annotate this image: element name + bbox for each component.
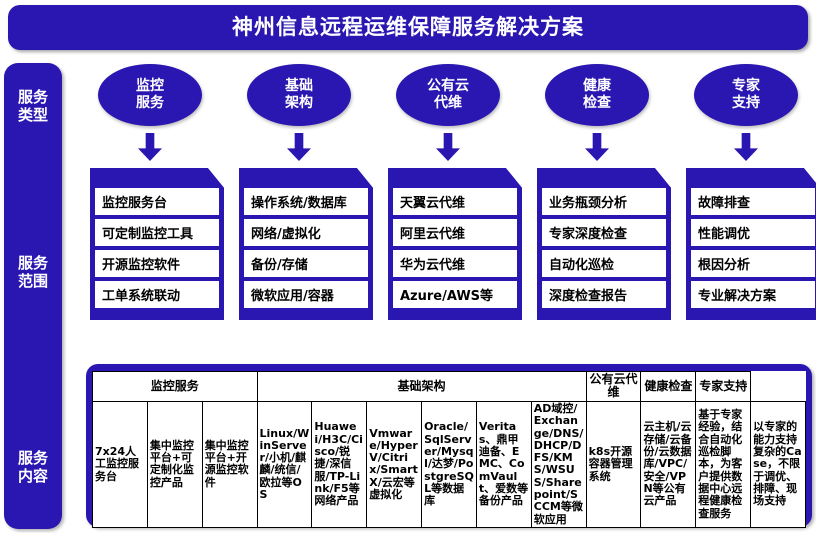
- table-cell: Oracle/SqlServer/Mysql/达梦/PostgreSQL等数据库: [422, 401, 477, 527]
- table-cell: 云主机/云存储/云备份/云数据库/VPC/安全/VPN等公有云产品: [641, 401, 696, 527]
- flow-arrow-down-4: [585, 133, 609, 161]
- scope-item-label: 可定制监控工具: [102, 223, 193, 242]
- page-title: 神州信息远程运维保障服务解决方案: [232, 17, 584, 38]
- scope-item[interactable]: 深度检查报告: [542, 281, 666, 308]
- rail-label-service-type-line1: 服务: [4, 89, 62, 107]
- category-label-line2: 服务: [136, 95, 164, 112]
- scope-box-1: 监控服务台可定制监控工具开源监控软件工单系统联动: [90, 168, 224, 320]
- table-cell: 7x24人工监控服务台: [93, 401, 148, 527]
- scope-item-label: 备份/存储: [251, 254, 308, 273]
- category-label-line2: 代维: [427, 95, 469, 112]
- table-group-header-3: 公有云代维: [586, 372, 641, 402]
- table-group-header-4: 健康检查: [641, 372, 696, 402]
- scope-item-label: 阿里云代维: [400, 223, 465, 242]
- scope-item[interactable]: 自动化巡检: [542, 250, 666, 277]
- scope-box-2: 操作系统/数据库网络/虚拟化备份/存储微软应用/容器: [239, 168, 373, 320]
- scope-item[interactable]: 工单系统联动: [95, 281, 219, 308]
- table-cell: 以专家的能力支持复杂的Case，不限于调优、排障、现场支持: [751, 401, 806, 527]
- scope-item[interactable]: 业务瓶颈分析: [542, 188, 666, 215]
- scope-item-label: 微软应用/容器: [251, 285, 334, 304]
- category-ellipse-label-4: 健康检查: [583, 78, 611, 112]
- rail-label-service-content: 服务 内容: [4, 450, 62, 485]
- category-ellipse-label-1: 监控服务: [136, 78, 164, 112]
- category-ellipse-4[interactable]: 健康检查: [545, 64, 649, 126]
- scope-item[interactable]: 性能调优: [691, 219, 815, 246]
- table-cell: AD域控/Exchange/DNS/DHCP/DFS/KMS/WSUS/Shar…: [531, 401, 586, 527]
- scope-item[interactable]: Azure/AWS等: [393, 281, 517, 308]
- table-group-header-5: 专家支持: [696, 372, 751, 402]
- scope-item[interactable]: 可定制监控工具: [95, 219, 219, 246]
- scope-item-label: 故障排查: [698, 192, 750, 211]
- category-label-line1: 公有云: [427, 78, 469, 95]
- scope-item[interactable]: 监控服务台: [95, 188, 219, 215]
- scope-item-label: 天翼云代维: [400, 192, 465, 211]
- flow-arrow-down-1: [138, 133, 162, 161]
- category-label-line1: 健康: [583, 78, 611, 95]
- category-ellipse-5[interactable]: 专家支持: [694, 64, 798, 126]
- scope-item-label: 华为云代维: [400, 254, 465, 273]
- rail-label-service-scope-line1: 服务: [4, 255, 62, 273]
- category-label-line1: 专家: [732, 78, 760, 95]
- flow-arrow-down-2: [287, 133, 311, 161]
- scope-item-label: 监控服务台: [102, 192, 167, 211]
- table-body: 7x24人工监控服务台集中监控平台+可定制化监控产品集中监控平台+开源监控软件L…: [93, 401, 806, 527]
- scope-item-label: 业务瓶颈分析: [549, 192, 627, 211]
- scope-item-label: 专家深度检查: [549, 223, 627, 242]
- table-cell: 集中监控平台+可定制化监控产品: [147, 401, 202, 527]
- table-group-header-2: 基础架构: [257, 372, 586, 402]
- scope-box-4: 业务瓶颈分析专家深度检查自动化巡检深度检查报告: [537, 168, 671, 320]
- scope-item[interactable]: 网络/虚拟化: [244, 219, 368, 246]
- flow-arrow-down-3: [436, 133, 460, 161]
- category-ellipse-3[interactable]: 公有云代维: [396, 64, 500, 126]
- scope-item[interactable]: 开源监控软件: [95, 250, 219, 277]
- category-label-line2: 检查: [583, 95, 611, 112]
- scope-item[interactable]: 天翼云代维: [393, 188, 517, 215]
- table-row: 7x24人工监控服务台集中监控平台+可定制化监控产品集中监控平台+开源监控软件L…: [93, 401, 806, 527]
- category-ellipse-1[interactable]: 监控服务: [98, 64, 202, 126]
- left-rail: 服务 类型 服务 范围 服务 内容: [4, 63, 62, 529]
- rail-label-service-type-line2: 类型: [4, 107, 62, 125]
- category-label-line2: 支持: [732, 95, 760, 112]
- scope-item-label: 开源监控软件: [102, 254, 180, 273]
- scope-item[interactable]: 专家深度检查: [542, 219, 666, 246]
- scope-item[interactable]: 故障排查: [691, 188, 815, 215]
- rail-label-service-scope: 服务 范围: [4, 255, 62, 290]
- category-label-line1: 基础: [285, 78, 313, 95]
- table-cell: 集中监控平台+开源监控软件: [202, 401, 257, 527]
- scope-item[interactable]: 微软应用/容器: [244, 281, 368, 308]
- scope-item-label: 专业解决方案: [698, 285, 776, 304]
- scope-item[interactable]: 备份/存储: [244, 250, 368, 277]
- scope-item-label: Azure/AWS等: [400, 285, 493, 304]
- scope-item[interactable]: 操作系统/数据库: [244, 188, 368, 215]
- scope-item[interactable]: 阿里云代维: [393, 219, 517, 246]
- scope-item-label: 自动化巡检: [549, 254, 614, 273]
- table-cell: Huawei/H3C/Cisco/锐捷/深信服/TP-Link/F5等网络产品: [312, 401, 367, 527]
- scope-item[interactable]: 华为云代维: [393, 250, 517, 277]
- table-cell: k8s开源容器管理系统: [586, 401, 641, 527]
- table-header: 监控服务基础架构公有云代维健康检查专家支持: [93, 372, 806, 402]
- scope-item[interactable]: 专业解决方案: [691, 281, 815, 308]
- rail-label-service-content-line1: 服务: [4, 450, 62, 468]
- rail-label-service-content-line2: 内容: [4, 468, 62, 486]
- scope-box-3: 天翼云代维阿里云代维华为云代维Azure/AWS等: [388, 168, 522, 320]
- page-title-banner: 神州信息远程运维保障服务解决方案: [8, 5, 808, 50]
- service-content-panel: 监控服务基础架构公有云代维健康检查专家支持 7x24人工监控服务台集中监控平台+…: [86, 364, 812, 527]
- table-group-header-row: 监控服务基础架构公有云代维健康检查专家支持: [93, 372, 806, 402]
- rail-label-service-scope-line2: 范围: [4, 273, 62, 291]
- service-content-table: 监控服务基础架构公有云代维健康检查专家支持 7x24人工监控服务台集中监控平台+…: [92, 371, 806, 528]
- category-ellipse-label-2: 基础架构: [285, 78, 313, 112]
- category-label-line2: 架构: [285, 95, 313, 112]
- table-cell: Veritas、鼎甲迪备、EMC、ComVault、爱数等备份产品: [476, 401, 531, 527]
- scope-item-label: 工单系统联动: [102, 285, 180, 304]
- table-group-header-1: 监控服务: [93, 372, 258, 402]
- category-ellipse-2[interactable]: 基础架构: [247, 64, 351, 126]
- scope-item-label: 根因分析: [698, 254, 750, 273]
- flow-arrow-down-5: [734, 133, 758, 161]
- category-label-line1: 监控: [136, 78, 164, 95]
- table-cell: Linux/WinServer/小机/麒麟/统信/欧拉等OS: [257, 401, 312, 527]
- category-ellipse-label-5: 专家支持: [732, 78, 760, 112]
- scope-item[interactable]: 根因分析: [691, 250, 815, 277]
- scope-item-label: 操作系统/数据库: [251, 192, 347, 211]
- scope-item-label: 网络/虚拟化: [251, 223, 321, 242]
- category-ellipse-label-3: 公有云代维: [427, 78, 469, 112]
- table-cell: Vmware/HyperV/Citrix/SmartX/云宏等虚拟化: [367, 401, 422, 527]
- table-cell: 基于专家经验，结合自动化巡检脚本，为客户提供数据中心远程健康检查服务: [696, 401, 751, 527]
- scope-box-5: 故障排查性能调优根因分析专业解决方案: [686, 168, 816, 320]
- scope-item-label: 深度检查报告: [549, 285, 627, 304]
- scope-item-label: 性能调优: [698, 223, 750, 242]
- rail-label-service-type: 服务 类型: [4, 89, 62, 124]
